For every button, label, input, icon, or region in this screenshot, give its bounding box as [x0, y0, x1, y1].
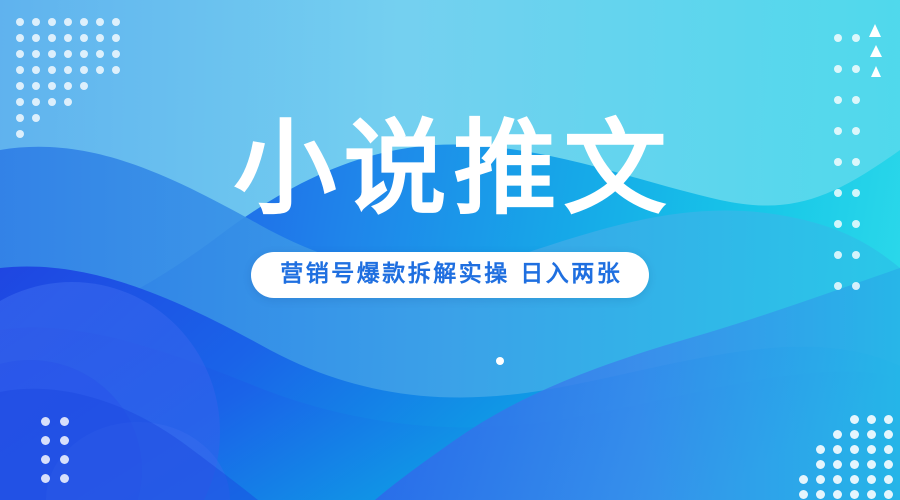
- promo-banner: 小说推文 营销号爆款拆解实操 日入两张: [0, 0, 900, 500]
- page-title: 小说推文: [227, 118, 674, 221]
- subtitle-badge: 营销号爆款拆解实操 日入两张: [251, 252, 650, 298]
